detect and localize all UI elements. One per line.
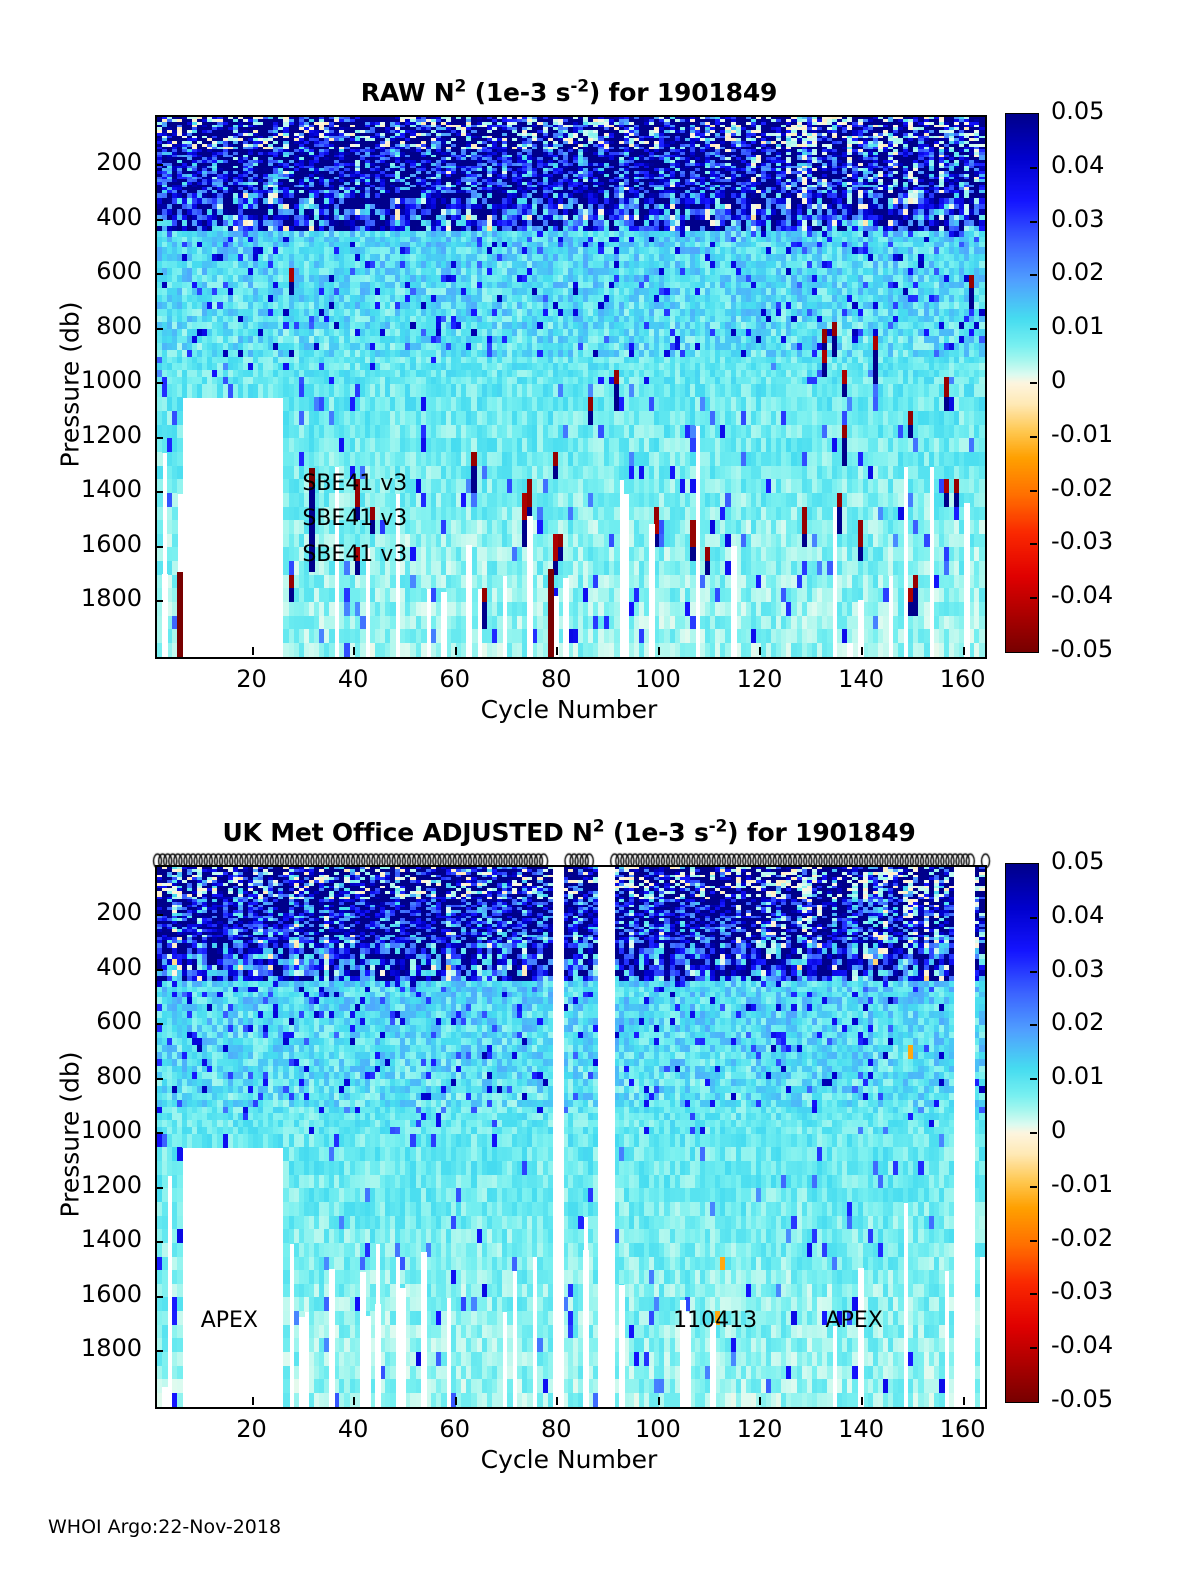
adjusted-title-pre: UK Met Office ADJUSTED N bbox=[222, 818, 592, 847]
x-tick-mark bbox=[759, 1397, 761, 1405]
y-tick-label: 1000 bbox=[50, 1116, 142, 1144]
colorbar-tick-mark bbox=[1030, 1240, 1037, 1242]
colorbar-tick-mark bbox=[1030, 1078, 1037, 1080]
colorbar-tick-label: 0 bbox=[1051, 1116, 1066, 1144]
adjusted-title-mid: (1e-3 s bbox=[604, 818, 708, 847]
colorbar-tick-label: -0.04 bbox=[1051, 1331, 1113, 1359]
x-tick-label: 80 bbox=[516, 1415, 596, 1443]
y-tick-label: 200 bbox=[50, 898, 142, 926]
y-tick-mark bbox=[155, 969, 163, 971]
colorbar-tick-mark bbox=[1030, 1293, 1037, 1295]
x-tick-mark bbox=[556, 1397, 558, 1405]
colorbar-tick-label: 0.05 bbox=[1051, 847, 1104, 875]
y-tick-label: 1200 bbox=[50, 1171, 142, 1199]
y-tick-mark bbox=[155, 1078, 163, 1080]
y-tick-mark bbox=[155, 1132, 163, 1134]
panel-adjusted: UK Met Office ADJUSTED N2 (1e-3 s-2) for… bbox=[0, 0, 1200, 1500]
argo-n2-figure: RAW N2 (1e-3 s-2) for 1901849 Pressure (… bbox=[0, 0, 1200, 1575]
y-tick-mark bbox=[155, 1296, 163, 1298]
y-tick-label: 1600 bbox=[50, 1280, 142, 1308]
colorbar-tick-mark bbox=[1030, 917, 1037, 919]
colorbar-tick-mark bbox=[1030, 1132, 1037, 1134]
figure-footer: WHOI Argo:22-Nov-2018 bbox=[48, 1516, 281, 1538]
colorbar-tick-label: -0.02 bbox=[1051, 1224, 1113, 1252]
x-tick-label: 100 bbox=[618, 1415, 698, 1443]
x-tick-mark bbox=[963, 1397, 965, 1405]
colorbar-tick-label: 0.04 bbox=[1051, 901, 1104, 929]
y-tick-label: 1800 bbox=[50, 1334, 142, 1362]
adjusted-title-sup2: -2 bbox=[709, 817, 727, 837]
colorbar-tick-label: 0.03 bbox=[1051, 955, 1104, 983]
colorbar-tick-mark bbox=[1030, 1347, 1037, 1349]
x-tick-label: 160 bbox=[923, 1415, 1003, 1443]
x-tick-mark bbox=[252, 1397, 254, 1405]
colorbar-tick-label: 0.01 bbox=[1051, 1062, 1104, 1090]
x-tick-label: 40 bbox=[313, 1415, 393, 1443]
adjusted-title-sup1: 2 bbox=[593, 817, 605, 837]
y-tick-mark bbox=[155, 914, 163, 916]
y-tick-mark bbox=[155, 1350, 163, 1352]
colorbar-tick-mark bbox=[1030, 971, 1037, 973]
adjusted-x-axis-label: Cycle Number bbox=[155, 1445, 983, 1474]
adjusted-title-post: ) for 1901849 bbox=[727, 818, 915, 847]
x-tick-mark bbox=[353, 1397, 355, 1405]
colorbar-tick-label: -0.05 bbox=[1051, 1385, 1113, 1413]
x-tick-mark bbox=[455, 1397, 457, 1405]
x-tick-mark bbox=[658, 1397, 660, 1405]
x-tick-label: 60 bbox=[415, 1415, 495, 1443]
x-tick-label: 140 bbox=[821, 1415, 901, 1443]
x-tick-label: 20 bbox=[212, 1415, 292, 1443]
colorbar-tick-label: -0.03 bbox=[1051, 1277, 1113, 1305]
colorbar-tick-mark bbox=[1030, 1186, 1037, 1188]
y-tick-mark bbox=[155, 1187, 163, 1189]
plot-annotation: APEX bbox=[201, 1308, 258, 1333]
y-tick-mark bbox=[155, 1241, 163, 1243]
y-tick-label: 800 bbox=[50, 1062, 142, 1090]
colorbar-tick-mark bbox=[1030, 1024, 1037, 1026]
plot-annotation: 110413 bbox=[673, 1308, 757, 1333]
plot-annotation: APEX bbox=[826, 1308, 883, 1333]
x-tick-label: 120 bbox=[719, 1415, 799, 1443]
adjusted-plot-title: UK Met Office ADJUSTED N2 (1e-3 s-2) for… bbox=[155, 818, 983, 847]
y-tick-label: 400 bbox=[50, 953, 142, 981]
y-tick-label: 600 bbox=[50, 1007, 142, 1035]
x-tick-mark bbox=[861, 1397, 863, 1405]
colorbar-tick-label: 0.02 bbox=[1051, 1008, 1104, 1036]
y-tick-label: 1400 bbox=[50, 1225, 142, 1253]
colorbar-tick-label: -0.01 bbox=[1051, 1170, 1113, 1198]
y-tick-mark bbox=[155, 1023, 163, 1025]
